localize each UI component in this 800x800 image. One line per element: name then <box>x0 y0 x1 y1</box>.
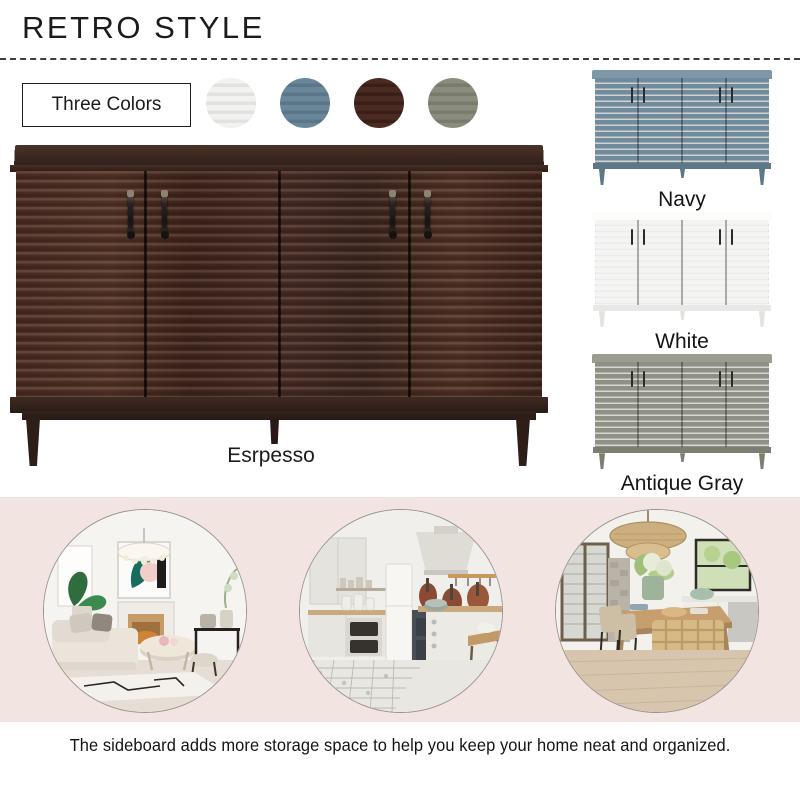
mini-leg-center <box>680 453 685 462</box>
header-divider <box>0 58 800 60</box>
mini-leg-right <box>759 311 765 327</box>
door-handle[interactable] <box>425 193 430 235</box>
variant-label: Antique Gray <box>572 472 792 496</box>
swatch-navy[interactable] <box>280 78 330 128</box>
sideboard-top-surface <box>14 145 544 167</box>
mini-sideboard <box>589 354 775 470</box>
mini-plinth <box>593 447 771 453</box>
kitchen-photo <box>299 509 503 713</box>
mini-body <box>595 362 769 448</box>
color-swatch-group <box>206 78 466 130</box>
mini-leg-left <box>599 311 605 327</box>
swatch-white[interactable] <box>206 78 256 128</box>
mini-sideboard <box>589 212 775 328</box>
three-colors-label: Three Colors <box>52 94 162 116</box>
mini-leg-left <box>599 453 605 469</box>
mini-plinth <box>593 163 771 169</box>
door-handle[interactable] <box>162 193 167 235</box>
dining-room-photo <box>555 509 759 713</box>
variant-navy[interactable]: Navy <box>572 70 792 212</box>
mini-body <box>595 220 769 306</box>
sideboard-apron <box>22 411 536 420</box>
mini-leg-center <box>680 169 685 178</box>
variant-antique-gray[interactable]: Antique Gray <box>572 354 792 496</box>
hero-sideboard-espresso <box>8 145 550 455</box>
sideboard-leg-center <box>270 418 279 444</box>
mini-leg-center <box>680 311 685 320</box>
mini-plinth <box>593 305 771 311</box>
footer-caption: The sideboard adds more storage space to… <box>24 735 776 756</box>
mini-leg-left <box>599 169 605 185</box>
swatch-antique-gray[interactable] <box>428 78 478 128</box>
hero-caption: Esrpesso <box>0 444 542 468</box>
mini-sideboard <box>589 70 775 186</box>
variant-label: White <box>572 330 792 354</box>
living-room-photo <box>43 509 247 713</box>
swatch-espresso[interactable] <box>354 78 404 128</box>
mini-body <box>595 78 769 164</box>
lifestyle-band <box>0 497 800 722</box>
page-title: RETRO STYLE <box>22 12 265 43</box>
mini-leg-right <box>759 169 765 185</box>
door-handle[interactable] <box>128 193 133 235</box>
mini-leg-right <box>759 453 765 469</box>
sideboard-door-panel <box>16 171 542 399</box>
door-seam <box>144 171 147 399</box>
product-marketing-image: RETRO STYLE Three Colors Esrpesso <box>0 0 800 800</box>
door-seam <box>278 171 281 399</box>
variant-label: Navy <box>572 188 792 212</box>
three-colors-box: Three Colors <box>22 83 191 127</box>
variant-thumbnail-list: Navy White <box>572 70 792 496</box>
door-seam <box>408 171 411 399</box>
door-handle[interactable] <box>390 193 395 235</box>
variant-white[interactable]: White <box>572 212 792 354</box>
